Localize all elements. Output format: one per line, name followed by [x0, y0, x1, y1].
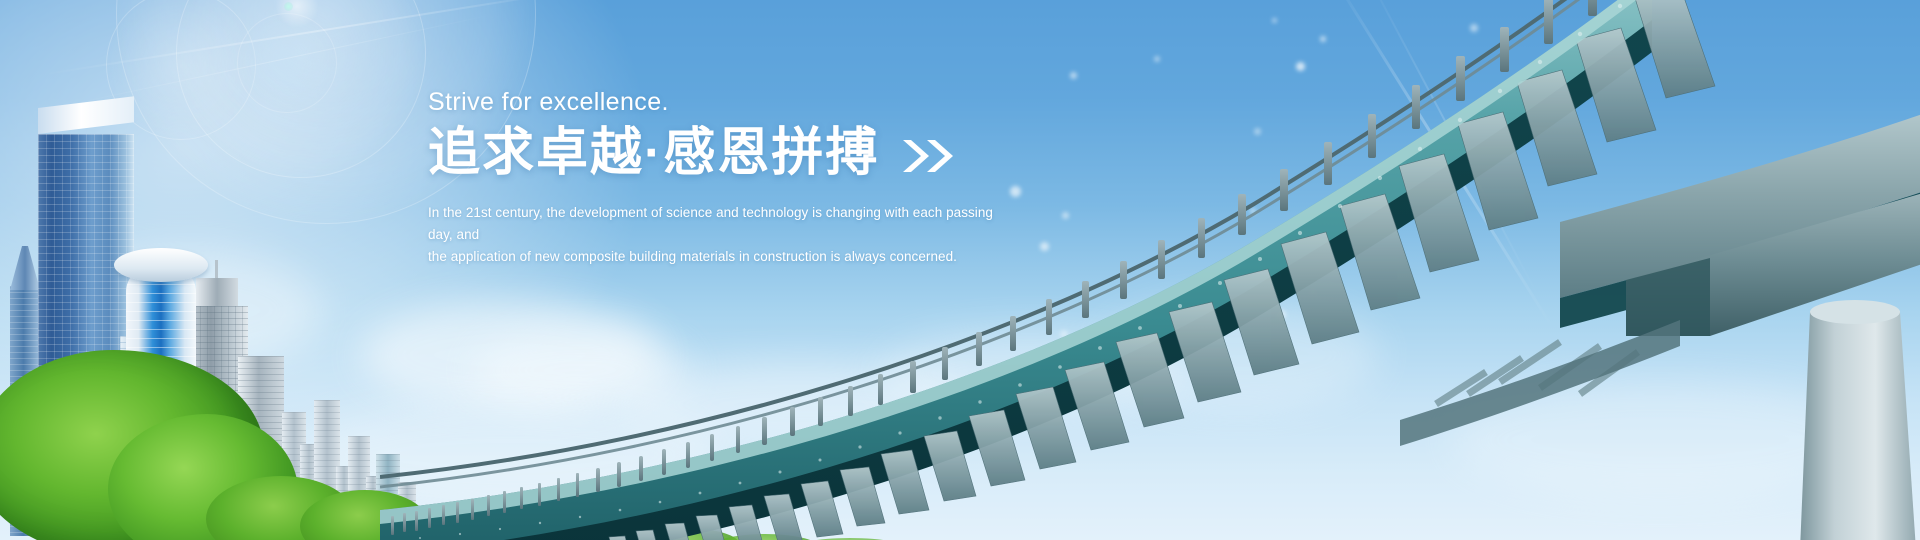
hero-banner: Strive for excellence. 追求卓越·感恩拼搏 In the … [0, 0, 1920, 540]
building-spire [10, 246, 40, 290]
hero-description-line-2: the application of new composite buildin… [428, 246, 1008, 268]
bokeh-particle [1070, 72, 1077, 79]
bridge-pier-column [1800, 312, 1916, 540]
bridge-pier-top [1810, 300, 1900, 324]
bokeh-particle [1245, 272, 1258, 285]
page-title: 追求卓越·感恩拼搏 [428, 125, 879, 182]
bokeh-particle [1154, 56, 1160, 62]
foreground-trees [0, 360, 780, 540]
bokeh-particle [1250, 208, 1256, 214]
light-streak [1359, 0, 1539, 297]
lens-flare-highlight-icon [284, 2, 293, 11]
cloud [1450, 380, 1870, 500]
building-antenna [215, 260, 218, 278]
building-roof-cap [38, 96, 134, 134]
bridge-far-span [1560, 108, 1920, 298]
hero-eyebrow: Strive for excellence. [428, 88, 1048, 117]
building-gray-tower-1-top [196, 278, 238, 306]
building-cylinder-cap [114, 248, 208, 282]
bokeh-particle [1296, 62, 1305, 71]
bridge-far-span-shadow [1560, 186, 1920, 328]
hero-description: In the 21st century, the development of … [428, 202, 1008, 269]
bokeh-particle [1062, 212, 1069, 219]
light-streak [1329, 0, 1554, 328]
double-chevron-right-icon[interactable] [901, 136, 957, 176]
hero-copy: Strive for excellence. 追求卓越·感恩拼搏 In the … [428, 88, 1048, 269]
bokeh-particle [1254, 128, 1261, 135]
cloud [880, 330, 1180, 416]
hero-headline-row: 追求卓越·感恩拼搏 [428, 125, 1048, 182]
lens-flare-icon [275, 0, 319, 28]
bridge-lattice [1436, 342, 1638, 404]
bridge-lower-beam [1400, 320, 1680, 446]
bridge-pier-cap-side [1626, 258, 1710, 336]
bokeh-particle [1150, 300, 1160, 310]
bokeh-particle [1277, 310, 1286, 319]
bokeh-particle [1060, 330, 1068, 338]
bridge-pier-cap [1626, 188, 1920, 336]
bokeh-particle [1310, 288, 1316, 294]
cloud [1100, 300, 1380, 410]
bokeh-particle [1470, 24, 1478, 32]
bokeh-particle [1272, 18, 1277, 23]
hero-description-line-1: In the 21st century, the development of … [428, 202, 1008, 247]
bokeh-particle [1320, 36, 1326, 42]
light-streak [40, 0, 593, 76]
